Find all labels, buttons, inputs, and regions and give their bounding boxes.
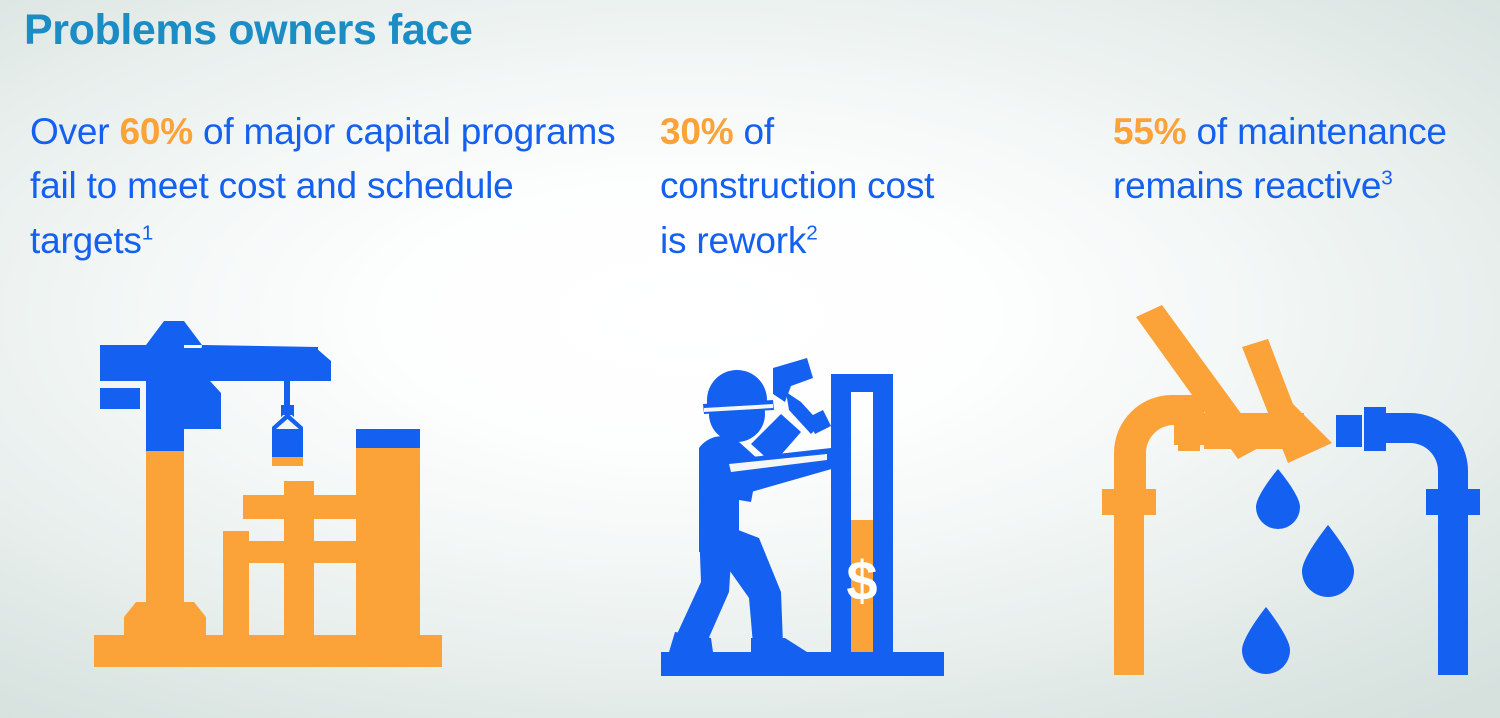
footnote-marker: 3 (1381, 167, 1392, 190)
stat-percentage: 60% (119, 111, 192, 152)
footnote-marker: 1 (142, 221, 153, 244)
stat-prefix: Over (30, 111, 119, 152)
stat-text: Over 60% of major capital programs fail … (30, 105, 630, 268)
worker-hammer-cost-gauge-icon: $ (655, 352, 950, 677)
water-drop-icon (1256, 469, 1300, 529)
stat-column-reactive-maintenance: 55% of maintenance remains reactive3 (1113, 105, 1493, 214)
page-title: Problems owners face (24, 6, 472, 55)
stat-percentage: 30% (660, 111, 733, 152)
footnote-marker: 2 (806, 221, 817, 244)
water-drop-icon (1242, 607, 1290, 674)
stat-column-capital-programs: Over 60% of major capital programs fail … (30, 105, 630, 268)
slide-canvas: Problems owners face Over 60% of major c… (0, 0, 1500, 718)
stat-column-construction-rework: 30% of construction cost is rework2 (660, 105, 960, 268)
water-drop-icon (1302, 525, 1354, 597)
leaking-pipe-icon (1092, 303, 1492, 675)
dollar-symbol: $ (846, 549, 877, 612)
construction-crane-icon (88, 305, 458, 680)
stat-percentage: 55% (1113, 111, 1186, 152)
stat-text: 30% of construction cost is rework2 (660, 105, 960, 268)
stat-text: 55% of maintenance remains reactive3 (1113, 105, 1493, 214)
